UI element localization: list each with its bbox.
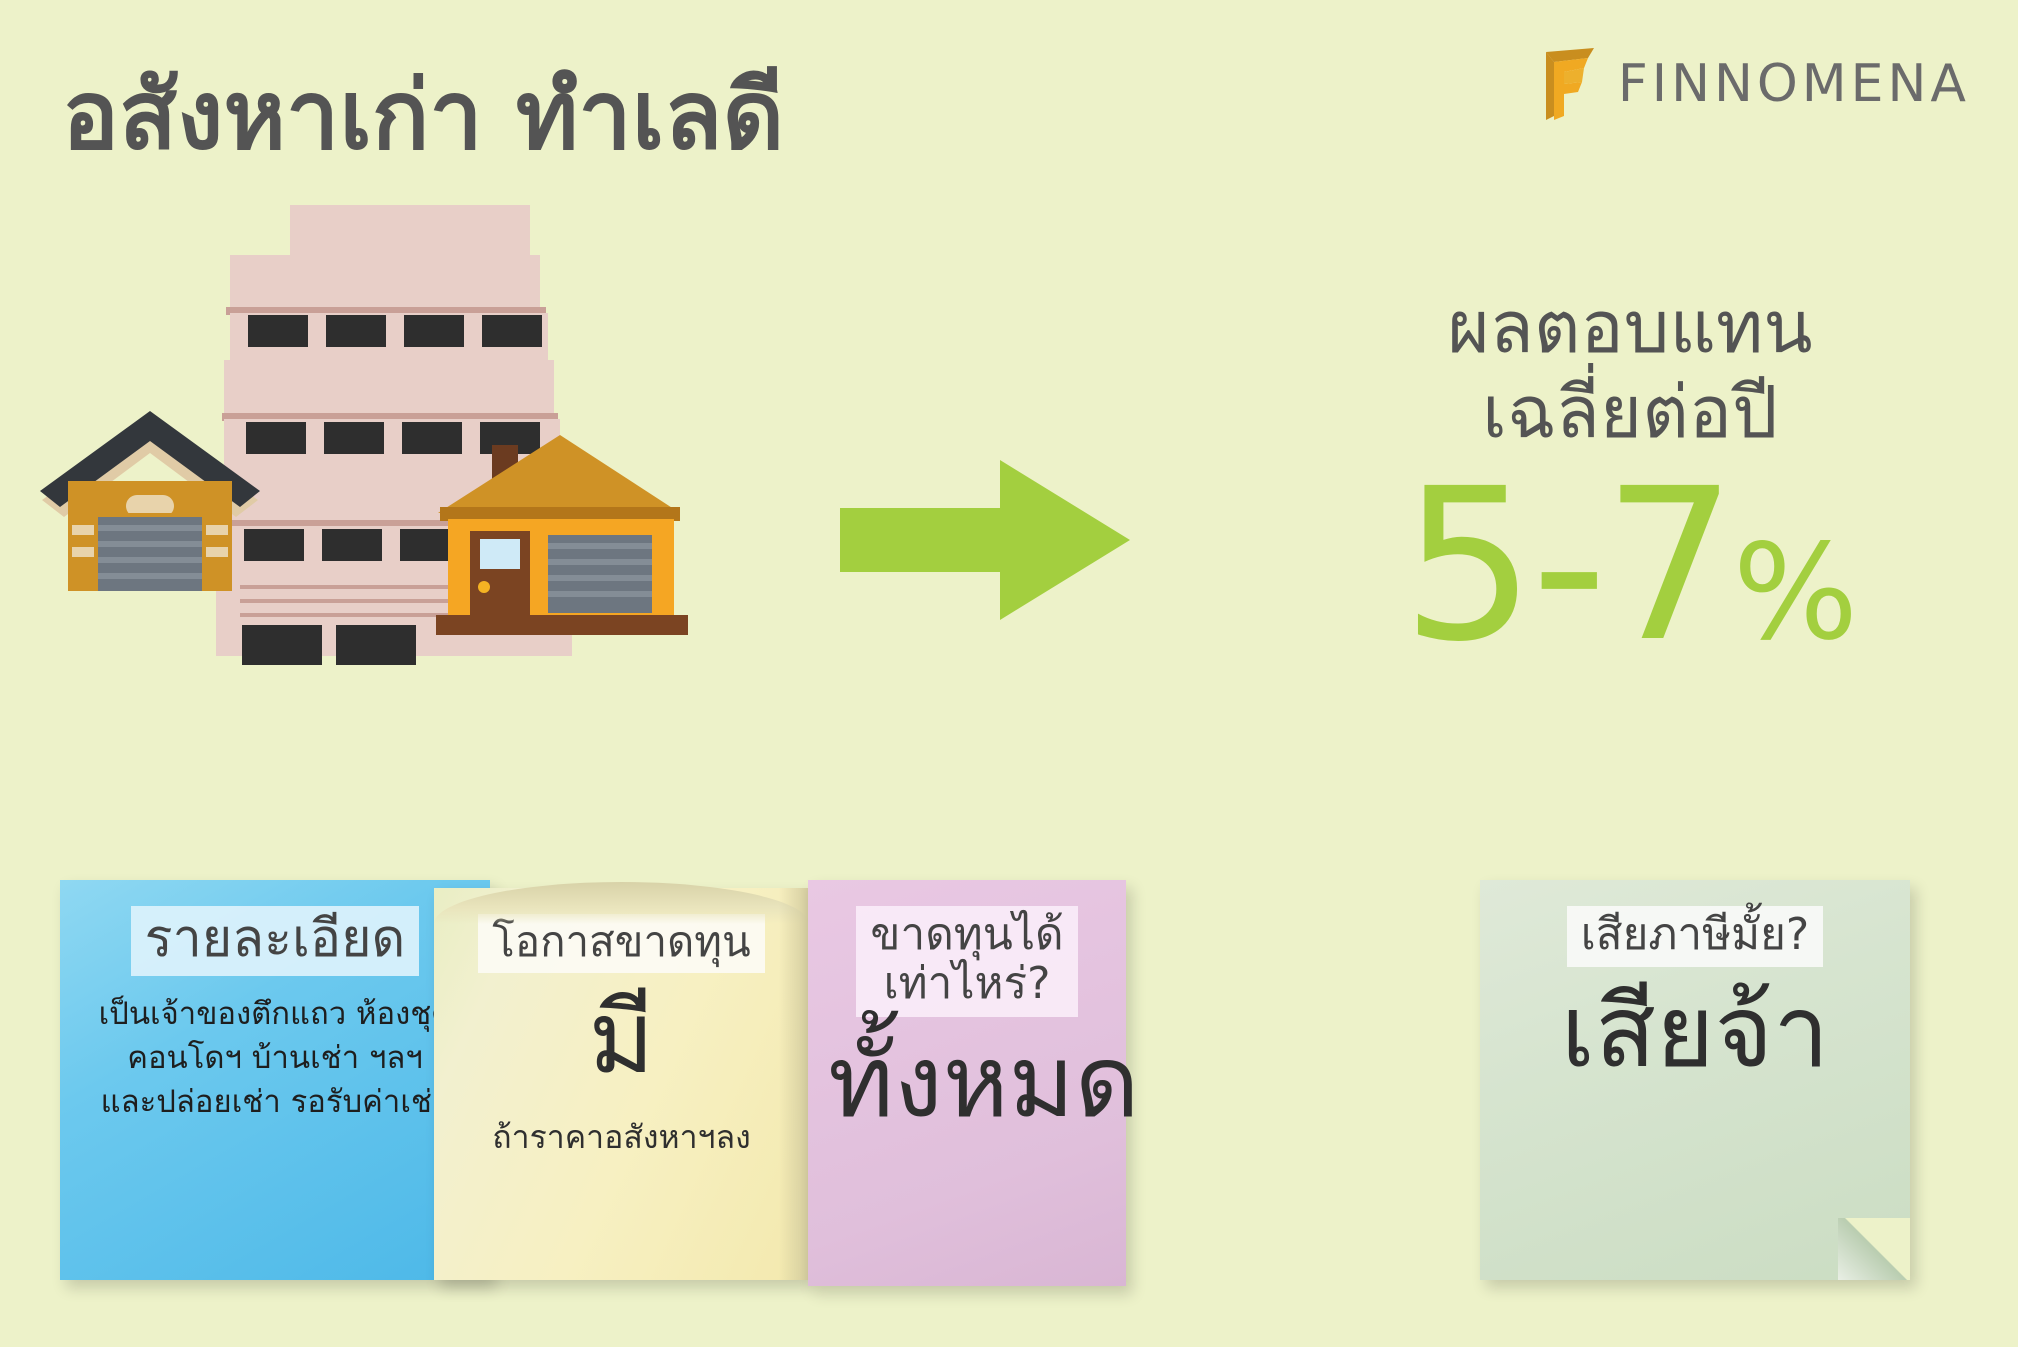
finnomena-f-mark-icon: [1544, 46, 1596, 122]
note-details-body: เป็นเจ้าของตึกแถว ห้องชุด คอนโดฯ บ้านเช่…: [80, 992, 470, 1124]
sticky-note-loss-amount[interactable]: ขาดทุนได้ เท่าไหร่? ทั้งหมด: [808, 880, 1126, 1286]
paper-curl-corner: [1838, 1218, 1910, 1280]
percent-sign: %: [1733, 516, 1858, 670]
brand-logo: FINNOMENA: [1544, 46, 1970, 122]
sticky-notes-row: รายละเอียด เป็นเจ้าของตึกแถว ห้องชุด คอน…: [0, 880, 2018, 1320]
note-loss-chance-caption: ถ้าราคาอสังหาฯลง: [454, 1112, 789, 1163]
note-loss-amount-heading: ขาดทุนได้ เท่าไหร่?: [856, 906, 1077, 1017]
annual-return-value: 5-7%: [1280, 461, 1980, 671]
note-details-heading: รายละเอียด: [131, 906, 420, 976]
arrow-right-icon: [840, 460, 1130, 620]
annual-return-block: ผลตอบแทน เฉลี่ยต่อปี 5-7%: [1280, 285, 1980, 671]
sticky-note-details[interactable]: รายละเอียด เป็นเจ้าของตึกแถว ห้องชุด คอน…: [60, 880, 490, 1280]
note-tax-heading: เสียภาษีมั้ย?: [1567, 906, 1824, 967]
sticky-note-tax[interactable]: เสียภาษีมั้ย? เสียจ้า: [1480, 880, 1910, 1280]
paper-curl-top: [434, 882, 809, 924]
note-loss-chance-value: มี: [454, 985, 789, 1090]
brand-wordmark: FINNOMENA: [1618, 54, 1970, 114]
page-title: อสังหาเก่า ทำเลดี: [62, 62, 784, 171]
note-tax-value: เสียจ้า: [1500, 979, 1890, 1084]
sticky-note-loss-chance[interactable]: โอกาสขาดทุน มี ถ้าราคาอสังหาฯลง: [434, 888, 809, 1280]
annual-return-number: 5-7: [1402, 443, 1733, 688]
old-buildings-illustration: [40, 195, 820, 665]
infographic-canvas: อสังหาเก่า ทำเลดี FINNOMENA: [0, 0, 2018, 1347]
note-loss-amount-value: ทั้งหมด: [828, 1029, 1106, 1134]
annual-return-label: ผลตอบแทน เฉลี่ยต่อปี: [1280, 285, 1980, 455]
